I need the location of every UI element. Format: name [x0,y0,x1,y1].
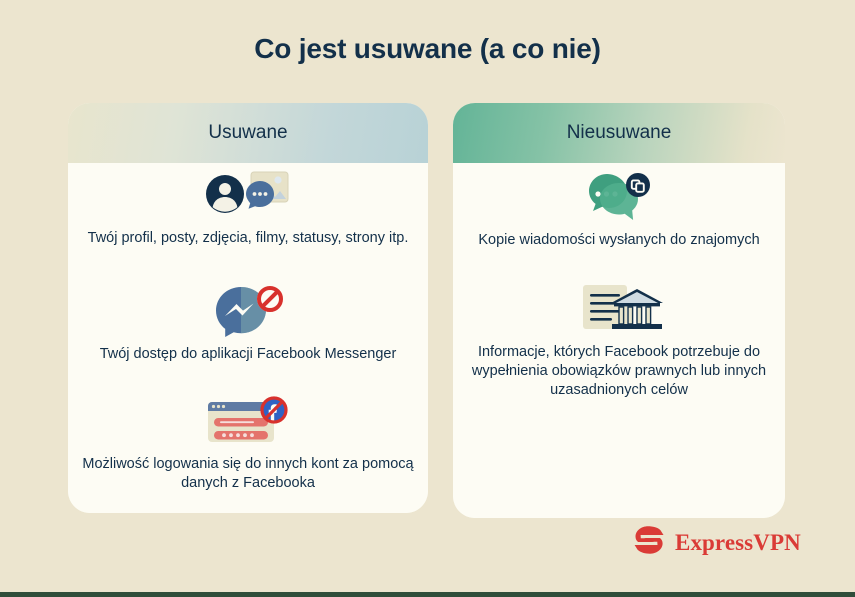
profile-photo-chat-icon [68,167,428,223]
list-item-label: Twój dostęp do aplikacji Facebook Messen… [68,345,428,364]
card-deleted-body: Twój profil, posty, zdjęcia, filmy, stat… [68,163,428,513]
card-not-deleted-header: Nieusuwane [453,103,785,163]
messenger-blocked-icon [68,283,428,339]
card-deleted-header: Usuwane [68,103,428,163]
list-item-label: Informacje, których Facebook potrzebuje … [453,343,785,400]
infographic-root: Co jest usuwane (a co nie) Usuwane [0,0,855,597]
list-item: Informacje, których Facebook potrzebuje … [453,281,785,400]
page-title: Co jest usuwane (a co nie) [0,33,855,65]
list-item-label: Możliwość logowania się do innych kont z… [68,455,428,493]
bottom-rule [0,592,855,597]
card-deleted: Usuwane [68,103,428,513]
list-item: Możliwość logowania się do innych kont z… [68,393,428,493]
list-item-label: Kopie wiadomości wysłanych do znajomych [453,231,785,250]
card-not-deleted: Nieusuwane Kopie wiadomości wysłany [453,103,785,518]
list-item: Twój dostęp do aplikacji Facebook Messen… [68,283,428,364]
list-item-label: Twój profil, posty, zdjęcia, filmy, stat… [68,229,428,248]
list-item: Twój profil, posty, zdjęcia, filmy, stat… [68,167,428,248]
expressvpn-mark-icon [632,524,666,561]
card-not-deleted-body: Kopie wiadomości wysłanych do znajomych [453,163,785,518]
expressvpn-wordmark: ExpressVPN [675,530,801,556]
login-form-blocked-icon [68,393,428,449]
expressvpn-logo: ExpressVPN [632,524,801,561]
list-item: Kopie wiadomości wysłanych do znajomych [453,169,785,250]
chat-bubbles-copy-icon [453,169,785,225]
document-courthouse-icon [453,281,785,337]
